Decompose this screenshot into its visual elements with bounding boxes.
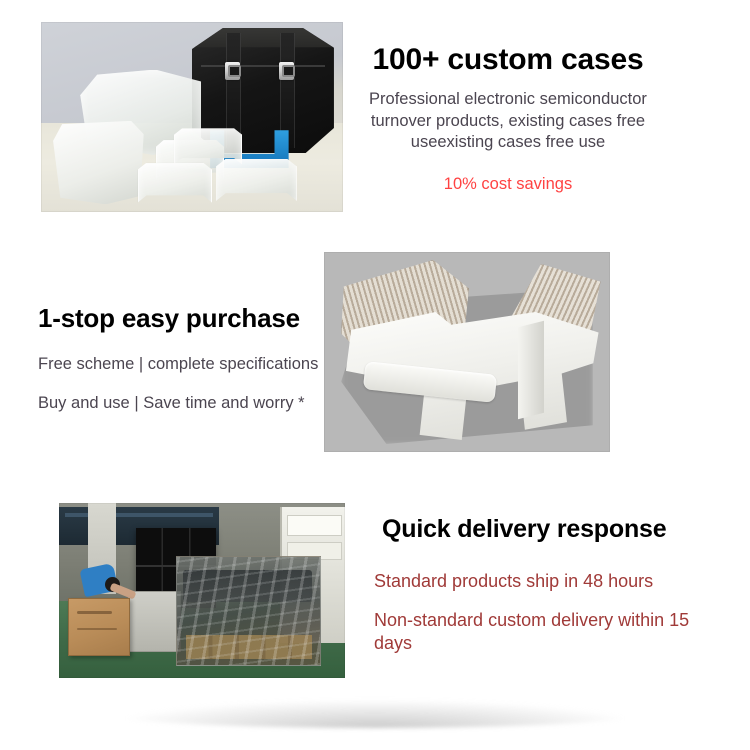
plastic-trays-and-black-case-photo — [41, 22, 343, 212]
bottom-curved-shadow — [110, 700, 640, 728]
one-stop-purchase-line-2: Buy and use | Save time and worry * — [38, 393, 318, 414]
quick-delivery-line-1: Standard products ship in 48 hours — [374, 570, 704, 593]
quick-delivery-heading: Quick delivery response — [374, 512, 704, 546]
one-stop-purchase-heading: 1-stop easy purchase — [38, 301, 318, 335]
custom-cases-body: Professional electronic semiconductor tu… — [348, 89, 668, 154]
quick-delivery-line-2: Non-standard custom delivery within 15 d… — [374, 609, 704, 655]
custom-cases-heading: 100+ custom cases — [348, 40, 668, 80]
one-stop-purchase-text-block: 1-stop easy purchase Free scheme | compl… — [38, 301, 318, 414]
quick-delivery-text-block: Quick delivery response Standard product… — [374, 512, 704, 655]
one-stop-purchase-line-1: Free scheme | complete specifications — [38, 354, 318, 375]
photo-inner-border — [59, 503, 345, 678]
feature-page: 100+ custom cases Professional electroni… — [0, 0, 750, 750]
photo-inner-border — [41, 22, 343, 212]
custom-cases-accent: 10% cost savings — [348, 174, 668, 195]
warehouse-packing-photo — [59, 503, 345, 678]
custom-cases-text-block: 100+ custom cases Professional electroni… — [348, 40, 668, 195]
white-wafer-carrier-photo — [324, 252, 610, 452]
photo-inner-border — [324, 252, 610, 452]
